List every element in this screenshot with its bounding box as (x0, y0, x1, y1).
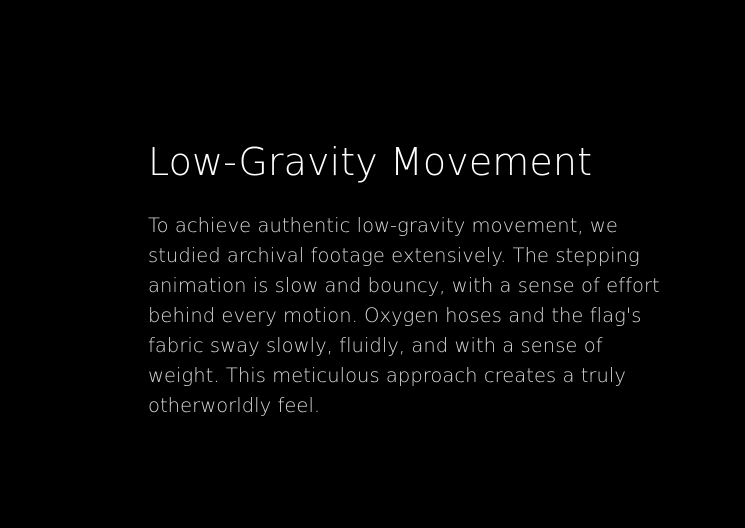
section-body-paragraph: To achieve authentic low-gravity movemen… (148, 211, 660, 421)
section-title: Low-Gravity Movement (148, 139, 660, 185)
text-content-block: Low-Gravity Movement To achieve authenti… (148, 139, 660, 421)
slide-canvas: Low-Gravity Movement To achieve authenti… (0, 0, 745, 528)
